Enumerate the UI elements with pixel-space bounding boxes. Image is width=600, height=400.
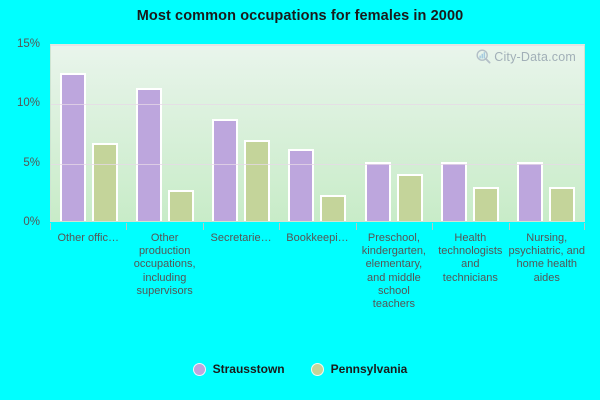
y-axis-tick-label: 15%: [17, 38, 40, 50]
x-axis-category-label: Other offic…: [50, 223, 126, 311]
gridline: [51, 164, 584, 165]
bar-pennsylvania[interactable]: [549, 187, 575, 221]
bar-group: [127, 45, 203, 221]
plot-area: City-Data.com: [50, 44, 585, 222]
bar-group: [279, 45, 355, 221]
bar-strausstown[interactable]: [288, 149, 314, 221]
legend-label: Pennsylvania: [331, 362, 408, 376]
chart-container: Most common occupations for females in 2…: [0, 0, 600, 400]
bar-group: [432, 45, 508, 221]
y-axis-tick-label: 0%: [23, 216, 40, 228]
x-axis-category-label: Secretarie…: [203, 223, 279, 311]
bar-strausstown[interactable]: [136, 88, 162, 221]
y-axis-tick-label: 5%: [23, 157, 40, 169]
gridline: [51, 104, 584, 105]
x-axis-category-label: Health technologists and technicians: [432, 223, 508, 311]
bar-pennsylvania[interactable]: [244, 140, 270, 221]
gridline: [51, 45, 584, 46]
bar-strausstown[interactable]: [60, 73, 86, 221]
y-axis-tick-label: 10%: [17, 97, 40, 109]
legend-swatch-icon: [311, 363, 324, 376]
bar-group: [51, 45, 127, 221]
legend-item-pennsylvania[interactable]: Pennsylvania: [311, 362, 408, 376]
bars-layer: [51, 45, 584, 221]
legend-label: Strausstown: [213, 362, 285, 376]
bar-pennsylvania[interactable]: [397, 174, 423, 221]
bar-pennsylvania[interactable]: [168, 190, 194, 221]
x-axis-category-label: Bookkeepi…: [279, 223, 355, 311]
bar-group: [356, 45, 432, 221]
bar-strausstown[interactable]: [212, 119, 238, 221]
x-axis: Other offic…Other production occupations…: [50, 223, 585, 311]
bar-strausstown[interactable]: [365, 162, 391, 221]
bar-pennsylvania[interactable]: [320, 195, 346, 221]
legend-swatch-icon: [193, 363, 206, 376]
chart-legend: StrausstownPennsylvania: [0, 362, 600, 376]
bar-strausstown[interactable]: [441, 162, 467, 221]
bar-strausstown[interactable]: [517, 162, 543, 221]
chart-title: Most common occupations for females in 2…: [0, 8, 600, 24]
bar-pennsylvania[interactable]: [473, 187, 499, 221]
y-axis: 0%5%10%15%: [0, 44, 44, 222]
x-axis-category-label: Preschool, kindergarten, elementary, and…: [356, 223, 432, 311]
x-axis-category-label: Other production occupations, including …: [126, 223, 202, 311]
bar-group: [508, 45, 584, 221]
bar-pennsylvania[interactable]: [92, 143, 118, 221]
x-axis-category-label: Nursing, psychiatric, and home health ai…: [509, 223, 585, 311]
legend-item-strausstown[interactable]: Strausstown: [193, 362, 285, 376]
bar-group: [203, 45, 279, 221]
